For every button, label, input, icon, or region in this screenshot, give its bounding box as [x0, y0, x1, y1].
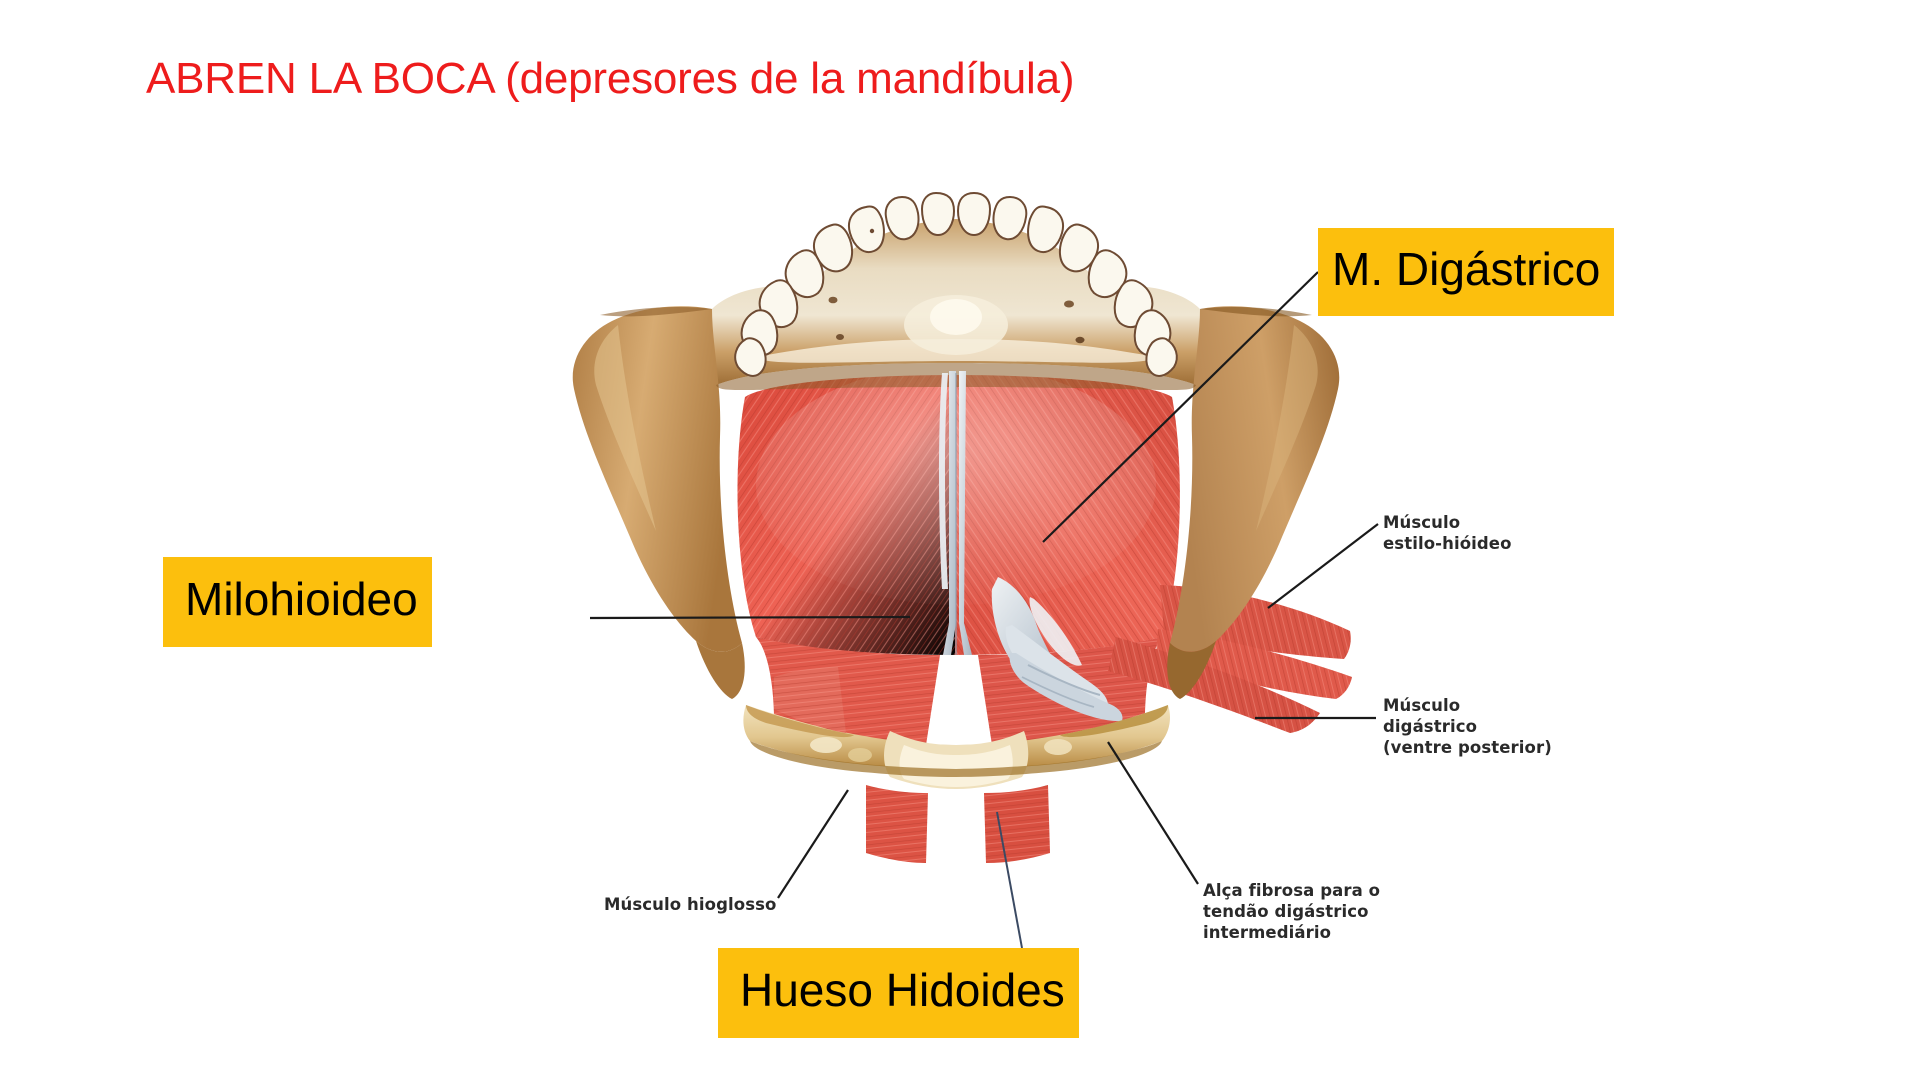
highlight-label-milohioideo[interactable]: Milohioideo — [163, 557, 432, 647]
highlight-label-hueso-hidoides[interactable]: Hueso Hidoides — [718, 948, 1079, 1038]
caption-musculo-estilo-hioideo: Músculo estilo-hióideo — [1383, 512, 1512, 554]
caption-alca-fibrosa: Alça fibrosa para o tendão digástrico in… — [1203, 880, 1380, 943]
highlight-label-digastrico[interactable]: M. Digástrico — [1318, 228, 1614, 316]
caption-musculo-digastrico-ventre-posterior: Músculo digástrico (ventre posterior) — [1383, 695, 1552, 758]
page-title: ABREN LA BOCA (depresores de la mandíbul… — [146, 55, 1074, 103]
anatomy-illustration — [560, 185, 1360, 905]
caption-musculo-hioglosso: Músculo hioglosso — [604, 894, 776, 915]
slide-canvas: ABREN LA BOCA (depresores de la mandíbul… — [0, 0, 1920, 1080]
infrahyoid-muscle-stumps — [866, 785, 1050, 863]
